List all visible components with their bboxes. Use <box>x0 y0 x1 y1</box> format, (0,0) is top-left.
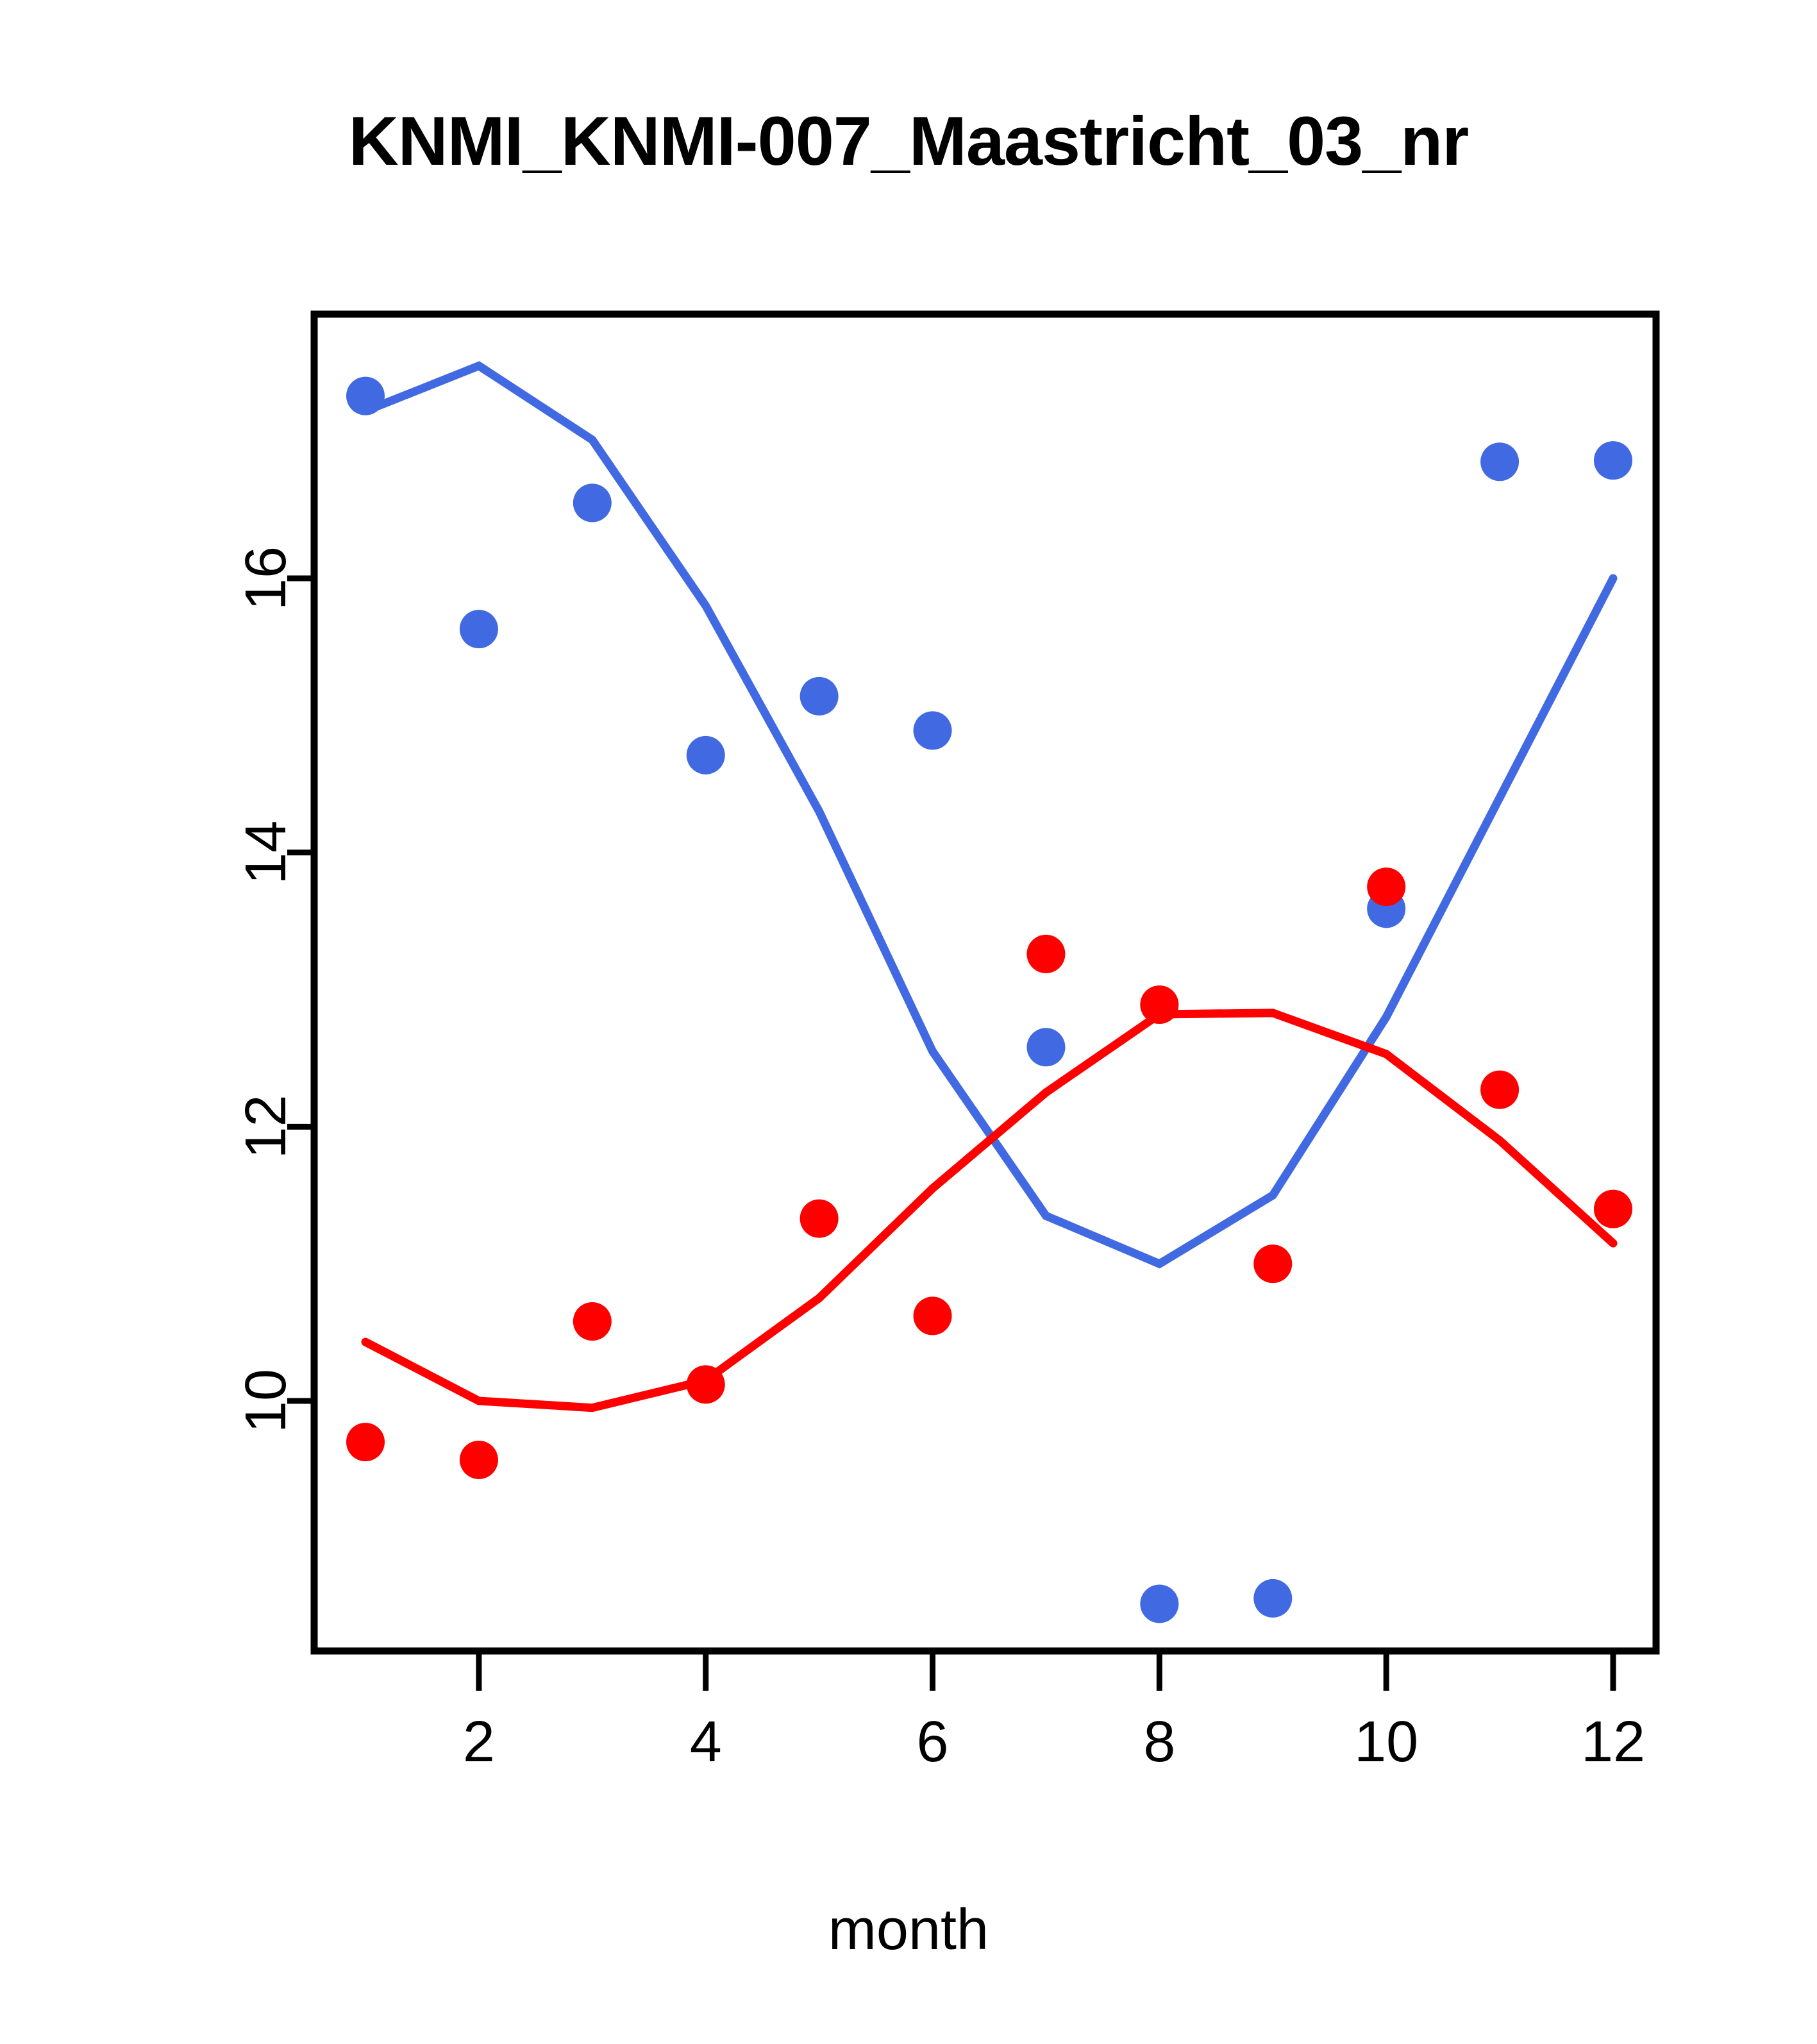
data-point-red-points <box>1594 1190 1632 1228</box>
x-axis-label: month <box>0 1898 1817 1962</box>
data-point-red-points <box>573 1302 612 1341</box>
data-point-red-points <box>1026 935 1065 973</box>
data-point-red-points <box>687 1365 725 1403</box>
chart-container: KNMI_KNMI-007_Maastricht_03_nr 10121416 … <box>0 0 1817 2044</box>
y-tick-label: 12 <box>234 1094 298 1159</box>
x-tick-label: 8 <box>1143 1710 1175 1774</box>
x-axis-ticks: 24681012 <box>463 1651 1645 1774</box>
series-line-blue-smooth-line <box>365 366 1613 1264</box>
data-point-red-points <box>800 1200 839 1238</box>
x-tick-label: 12 <box>1581 1710 1645 1774</box>
data-point-red-points <box>460 1441 498 1479</box>
data-point-red-points <box>1253 1244 1292 1283</box>
data-point-blue-points <box>1480 442 1519 481</box>
y-tick-label: 16 <box>234 546 298 610</box>
series-line-red-smooth-line <box>365 1013 1613 1408</box>
data-point-blue-points <box>1140 1584 1178 1623</box>
data-point-blue-points <box>1594 441 1632 480</box>
data-point-blue-points <box>460 610 498 648</box>
data-point-red-points <box>1367 867 1405 906</box>
series-lines <box>365 366 1613 1408</box>
data-point-blue-points <box>1253 1579 1292 1618</box>
plot-box <box>314 314 1656 1651</box>
y-tick-label: 10 <box>234 1369 298 1433</box>
data-point-blue-points <box>1026 1028 1065 1066</box>
chart-canvas: 10121416 24681012 <box>0 0 1817 2044</box>
plot-frame <box>314 314 1656 1651</box>
x-tick-label: 6 <box>917 1710 949 1774</box>
data-point-red-points <box>1480 1071 1519 1109</box>
data-point-red-points <box>1140 985 1178 1024</box>
data-point-blue-points <box>914 711 952 750</box>
data-point-blue-points <box>800 677 839 716</box>
data-point-red-points <box>346 1423 385 1461</box>
y-tick-label: 14 <box>234 821 298 885</box>
x-tick-label: 4 <box>690 1710 722 1774</box>
data-point-blue-points <box>346 377 385 415</box>
x-tick-label: 2 <box>463 1710 495 1774</box>
data-point-red-points <box>914 1296 952 1335</box>
data-point-blue-points <box>687 736 725 775</box>
x-tick-label: 10 <box>1354 1710 1418 1774</box>
data-point-blue-points <box>573 483 612 522</box>
series-points <box>346 377 1632 1623</box>
y-axis-ticks: 10121416 <box>234 546 314 1433</box>
